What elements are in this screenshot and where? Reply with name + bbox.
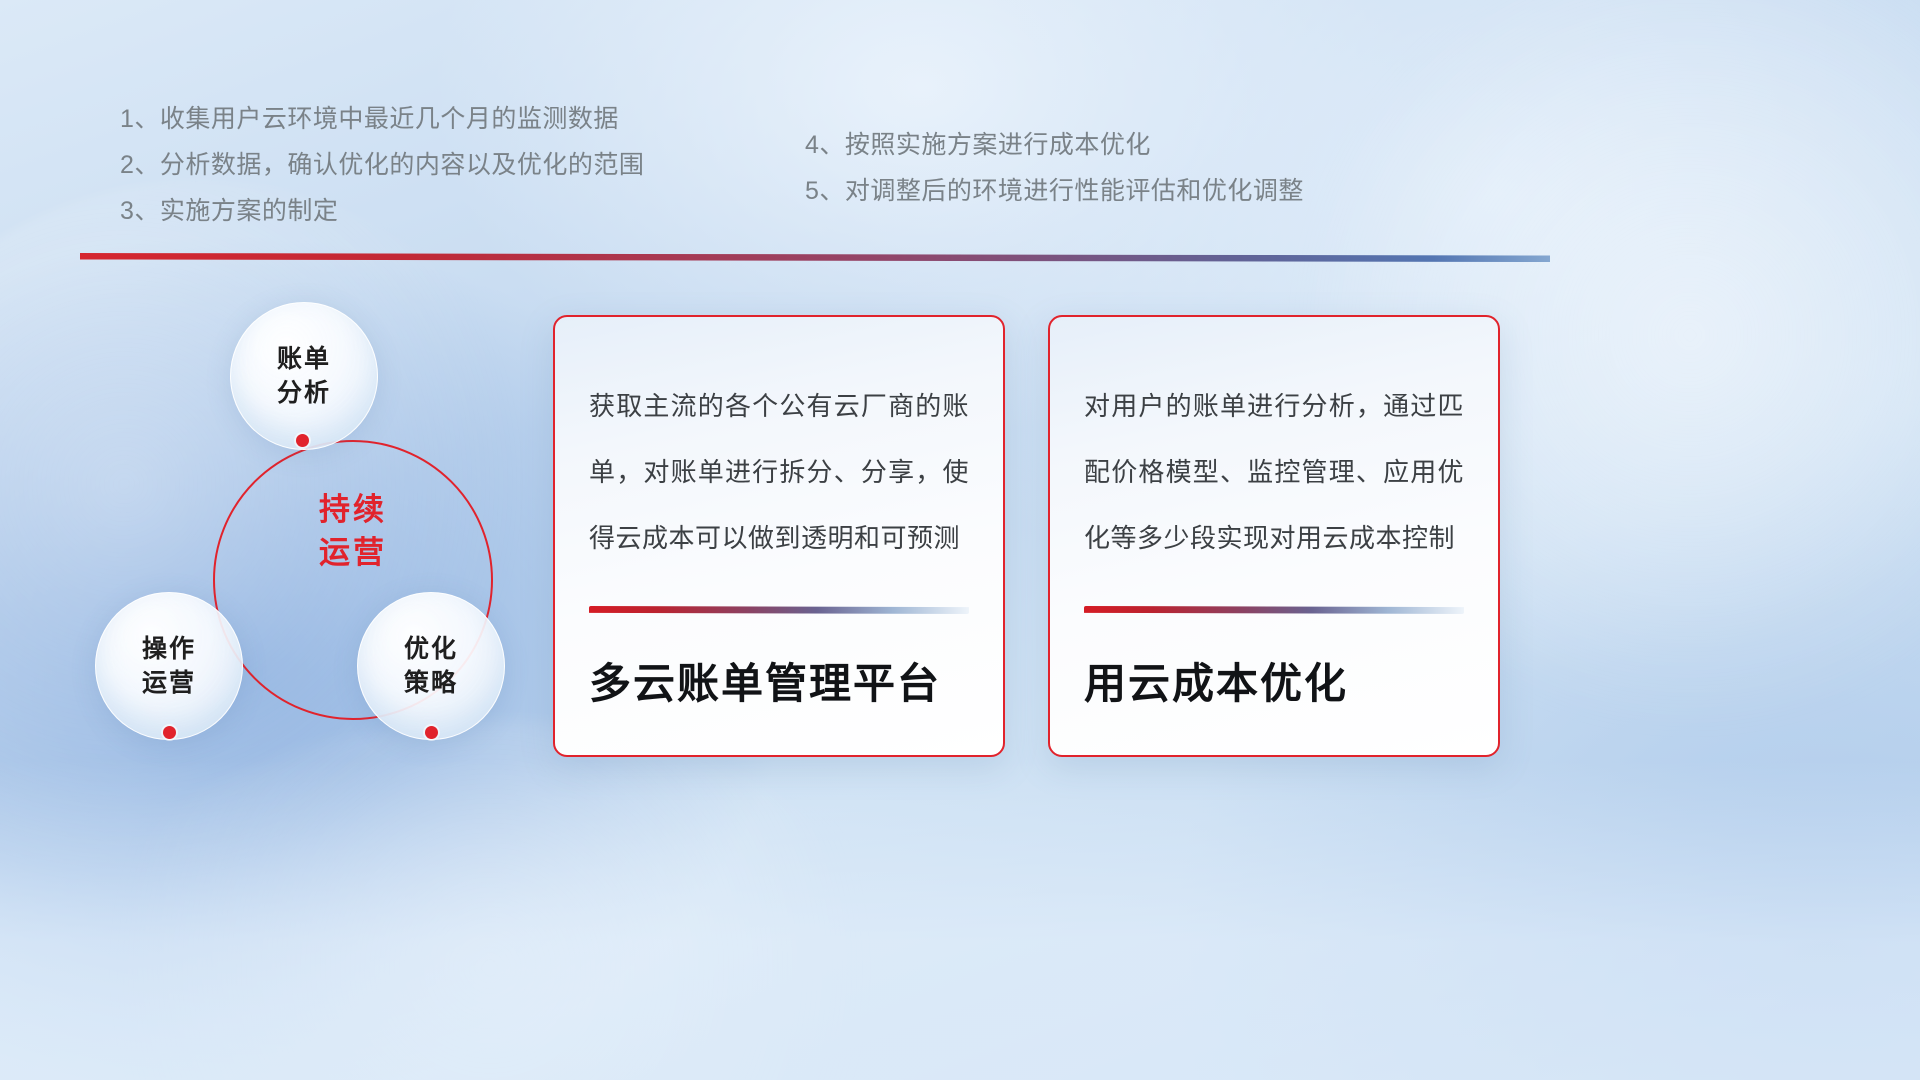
card-cloud-cost-optimization-title: 用云成本优化	[1084, 614, 1464, 755]
card-cloud-cost-optimization[interactable]: 对用户的账单进行分析，通过匹配价格模型、监控管理、应用优化等多少段实现对用云成本…	[1048, 315, 1500, 757]
step-item-5: 5、对调整后的环境进行性能评估和优化调整	[805, 168, 1465, 214]
diagram-node-operations[interactable]: 操作 运营	[95, 592, 243, 740]
diagram-center-label: 持续 运营	[213, 488, 493, 574]
diagram-node-optimization-strategy-line-2: 策略	[404, 666, 458, 700]
diagram-node-optimization-strategy[interactable]: 优化 策略	[357, 592, 505, 740]
steps-list-left: 1、收集用户云环境中最近几个月的监测数据 2、分析数据，确认优化的内容以及优化的…	[120, 96, 800, 234]
card-cloud-cost-optimization-body: 对用户的账单进行分析，通过匹配价格模型、监控管理、应用优化等多少段实现对用云成本…	[1084, 373, 1464, 571]
card-multicloud-billing-title: 多云账单管理平台	[589, 614, 969, 755]
diagram-node-operations-line-2: 运营	[142, 666, 196, 700]
lifecycle-diagram: 持续 运营 账单 分析 操作 运营 优化 策略	[85, 292, 555, 762]
step-item-4: 4、按照实施方案进行成本优化	[805, 122, 1465, 168]
card-multicloud-billing-body: 获取主流的各个公有云厂商的账单，对账单进行拆分、分享，使得云成本可以做到透明和可…	[589, 373, 969, 571]
step-item-3: 3、实施方案的制定	[120, 188, 800, 234]
diagram-center-line-1: 持续	[213, 488, 493, 531]
diagram-dot-top	[296, 434, 309, 447]
step-item-2: 2、分析数据，确认优化的内容以及优化的范围	[120, 142, 800, 188]
step-item-1: 1、收集用户云环境中最近几个月的监测数据	[120, 96, 800, 142]
diagram-dot-bottom-left	[163, 726, 176, 739]
steps-list-right: 4、按照实施方案进行成本优化 5、对调整后的环境进行性能评估和优化调整	[805, 122, 1465, 214]
diagram-node-bill-analysis[interactable]: 账单 分析	[230, 302, 378, 450]
diagram-node-operations-line-1: 操作	[142, 632, 196, 666]
background-bottom-sheen	[0, 760, 1920, 1080]
card-multicloud-billing[interactable]: 获取主流的各个公有云厂商的账单，对账单进行拆分、分享，使得云成本可以做到透明和可…	[553, 315, 1005, 757]
card-multicloud-billing-rule	[589, 606, 969, 614]
card-cloud-cost-optimization-rule	[1084, 606, 1464, 614]
diagram-node-bill-analysis-line-1: 账单	[277, 342, 331, 376]
diagram-dot-bottom-right	[425, 726, 438, 739]
diagram-node-optimization-strategy-line-1: 优化	[404, 632, 458, 666]
diagram-node-bill-analysis-line-2: 分析	[277, 376, 331, 410]
diagram-center-line-2: 运营	[213, 531, 493, 574]
